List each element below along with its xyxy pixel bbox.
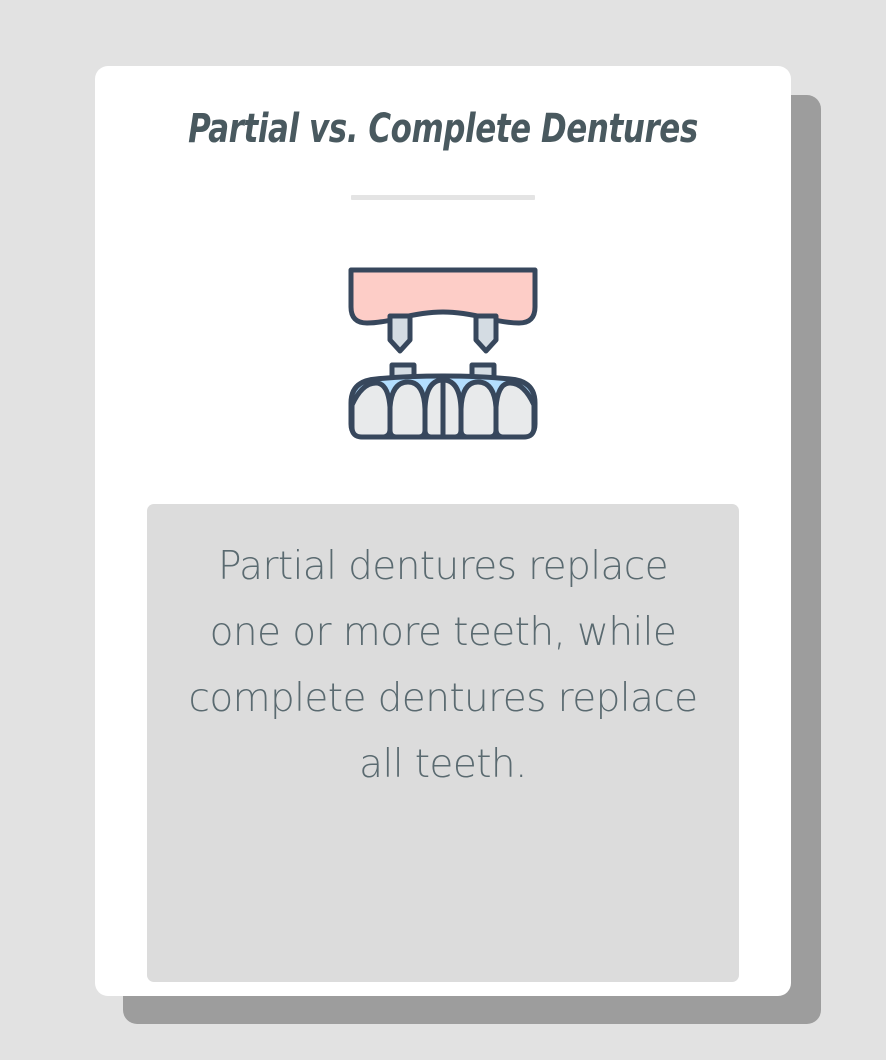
body-text: Partial dentures replace one or more tee… xyxy=(177,534,709,798)
upper-plate-shape xyxy=(351,270,535,323)
tooth-6 xyxy=(496,383,534,437)
page-title: Partial vs. Complete Dentures xyxy=(144,106,743,152)
upper-post-left xyxy=(390,316,410,351)
body-text-panel: Partial dentures replace one or more tee… xyxy=(147,504,739,982)
tooth-4 xyxy=(443,380,461,437)
slide-stage: Partial vs. Complete Dentures xyxy=(0,0,886,1060)
upper-post-right xyxy=(476,316,496,351)
tooth-2 xyxy=(390,382,425,437)
dentures-illustration xyxy=(346,261,540,441)
tooth-1 xyxy=(352,383,390,437)
tooth-5 xyxy=(461,382,496,437)
content-card: Partial vs. Complete Dentures xyxy=(95,66,791,996)
tooth-3 xyxy=(425,380,443,437)
title-divider xyxy=(351,195,535,200)
